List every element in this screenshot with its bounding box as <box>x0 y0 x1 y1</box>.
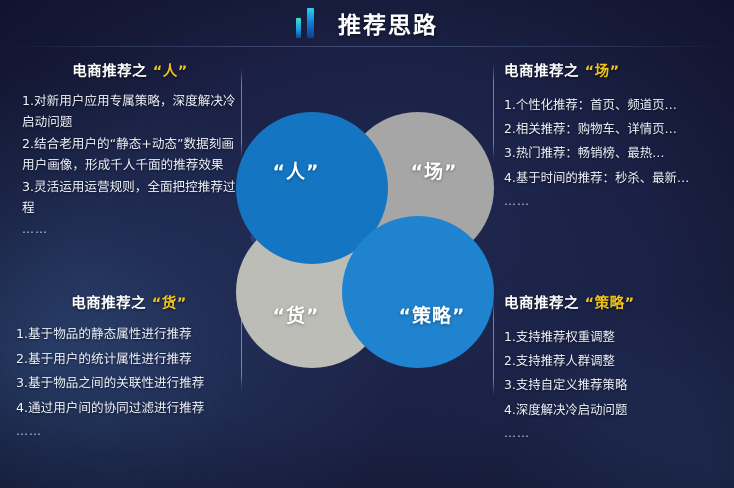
section-ren-heading-prefix: 电商推荐之 <box>72 64 153 80</box>
section-ce-list: 1.支持推荐权重调整 2.支持推荐人群调整 3.支持自定义推荐策略 4.深度解决… <box>504 325 728 422</box>
section-ce-heading-accent: “策略” <box>585 296 635 312</box>
venn-circle-ce[interactable]: “策略” <box>342 216 494 368</box>
section-ren-list: 1.对新用户应用专属策略，深度解决冷启动问题 2.结合老用户的“静态+动态”数据… <box>22 90 238 218</box>
list-item: 1.对新用户应用专属策略，深度解决冷启动问题 <box>22 90 238 133</box>
section-chang-list: 1.个性化推荐：首页、频道页… 2.相关推荐：购物车、详情页… 3.热门推荐：畅… <box>504 93 728 190</box>
section-huo-list: 1.基于物品的静态属性进行推荐 2.基于用户的统计属性进行推荐 3.基于物品之间… <box>16 322 242 420</box>
section-huo-heading: 电商推荐之 “货” <box>16 292 242 313</box>
section-chang-ellipsis: …… <box>504 194 728 208</box>
section-ren-heading: 电商推荐之 “人” <box>22 60 238 81</box>
list-item: 4.深度解决冷启动问题 <box>504 398 728 422</box>
list-item: 2.结合老用户的“静态+动态”数据刻画用户画像，形成千人千面的推荐效果 <box>22 133 238 176</box>
section-ren-ellipsis: …… <box>22 222 238 236</box>
list-item: 3.基于物品之间的关联性进行推荐 <box>16 371 242 396</box>
title-accent-bars-icon <box>296 8 314 38</box>
page-title: 推荐思路 <box>338 6 438 40</box>
list-item: 4.通过用户间的协同过滤进行推荐 <box>16 396 242 421</box>
venn-circle-huo-label: “货” <box>273 301 320 328</box>
venn-circle-ren-label: “人” <box>273 157 320 184</box>
list-item: 1.个性化推荐：首页、频道页… <box>504 93 728 117</box>
list-item: 1.基于物品的静态属性进行推荐 <box>16 322 242 347</box>
venn-circle-chang-label: “场” <box>411 157 458 184</box>
section-huo-ellipsis: …… <box>16 424 242 438</box>
section-chang-heading-prefix: 电商推荐之 <box>504 64 585 80</box>
section-huo-heading-accent: “货” <box>152 296 187 312</box>
section-ren-heading-accent: “人” <box>153 64 188 80</box>
section-huo: 电商推荐之 “货” 1.基于物品的静态属性进行推荐 2.基于用户的统计属性进行推… <box>16 292 242 438</box>
section-ce-heading: 电商推荐之 “策略” <box>504 292 728 313</box>
section-ce-heading-prefix: 电商推荐之 <box>504 296 585 312</box>
list-item: 3.灵活运用运营规则，全面把控推荐过程 <box>22 176 238 219</box>
slide-header: 推荐思路 <box>0 0 734 46</box>
venn-circle-ce-label: “策略” <box>399 301 466 328</box>
section-chang: 电商推荐之 “场” 1.个性化推荐：首页、频道页… 2.相关推荐：购物车、详情页… <box>504 60 728 208</box>
list-item: 3.热门推荐：畅销榜、最热… <box>504 141 728 165</box>
list-item: 2.基于用户的统计属性进行推荐 <box>16 347 242 372</box>
list-item: 4.基于时间的推荐：秒杀、最新… <box>504 166 728 190</box>
section-ce: 电商推荐之 “策略” 1.支持推荐权重调整 2.支持推荐人群调整 3.支持自定义… <box>504 292 728 440</box>
section-ce-ellipsis: …… <box>504 426 728 440</box>
header-divider <box>0 46 734 47</box>
list-item: 2.相关推荐：购物车、详情页… <box>504 117 728 141</box>
section-ren: 电商推荐之 “人” 1.对新用户应用专属策略，深度解决冷启动问题 2.结合老用户… <box>22 60 238 236</box>
venn-diagram: “人” “场” “货” “策略” <box>236 112 498 370</box>
list-item: 1.支持推荐权重调整 <box>504 325 728 349</box>
section-chang-heading: 电商推荐之 “场” <box>504 60 728 81</box>
list-item: 2.支持推荐人群调整 <box>504 349 728 373</box>
section-huo-heading-prefix: 电商推荐之 <box>71 296 152 312</box>
section-chang-heading-accent: “场” <box>585 64 620 80</box>
accent-bar-blue-icon <box>307 8 314 38</box>
list-item: 3.支持自定义推荐策略 <box>504 373 728 397</box>
accent-bar-teal-icon <box>296 18 301 38</box>
slide-root: 推荐思路 达观数据 DATA GRAND “人” “场” “货” “策略” 电商… <box>0 0 734 488</box>
